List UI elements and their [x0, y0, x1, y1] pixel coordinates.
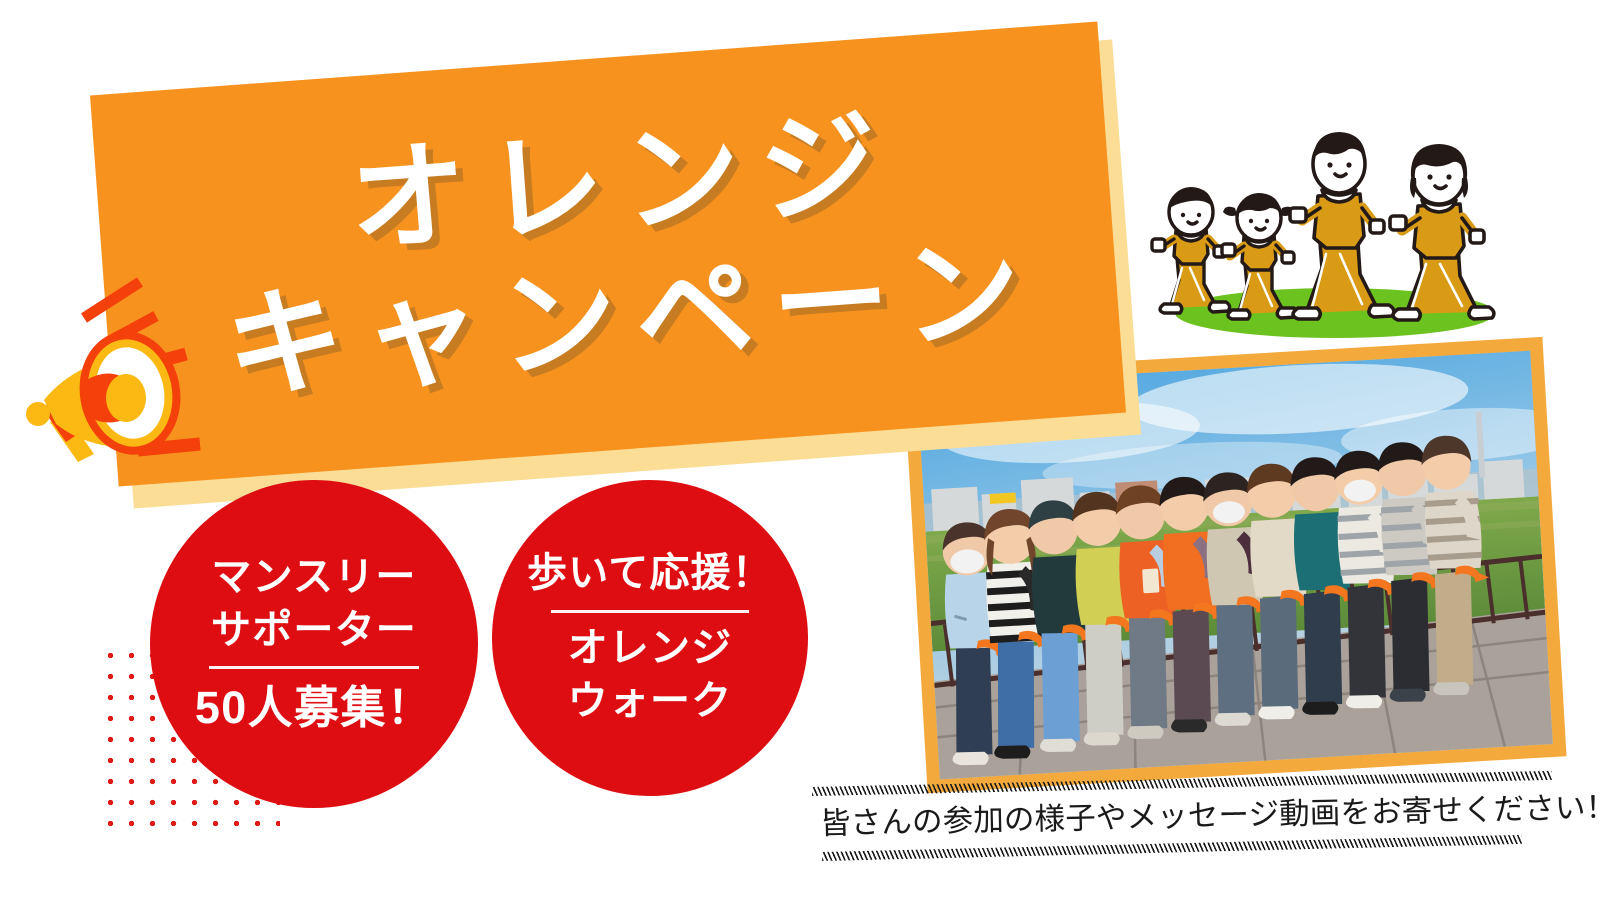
badge1-divider — [209, 666, 419, 669]
walking-family-illustration — [1130, 108, 1530, 348]
badge2-line1: 歩いて応援！ — [527, 547, 773, 601]
badge2-line2: オレンジ — [568, 622, 733, 676]
badge1-line3: 50人募集！ — [195, 678, 433, 737]
badge-orange-walk: 歩いて応援！ オレンジ ウォーク — [492, 480, 808, 796]
banner-title-line2: キャンペーン — [222, 229, 1044, 409]
badge1-line2: サポーター — [211, 604, 417, 657]
badge-monthly-supporter: マンスリー サポーター 50人募集！ — [150, 480, 478, 808]
badge2-line3: ウォーク — [568, 675, 733, 729]
caption-block: 皆さんの参加の様子やメッセージ動画をお寄せください！ — [812, 780, 1572, 880]
campaign-poster: オレンジ キャンペーン — [0, 0, 1600, 900]
megaphone-icon — [22, 272, 302, 502]
badge2-divider — [551, 610, 749, 613]
badge1-line1: マンスリー — [211, 551, 416, 604]
